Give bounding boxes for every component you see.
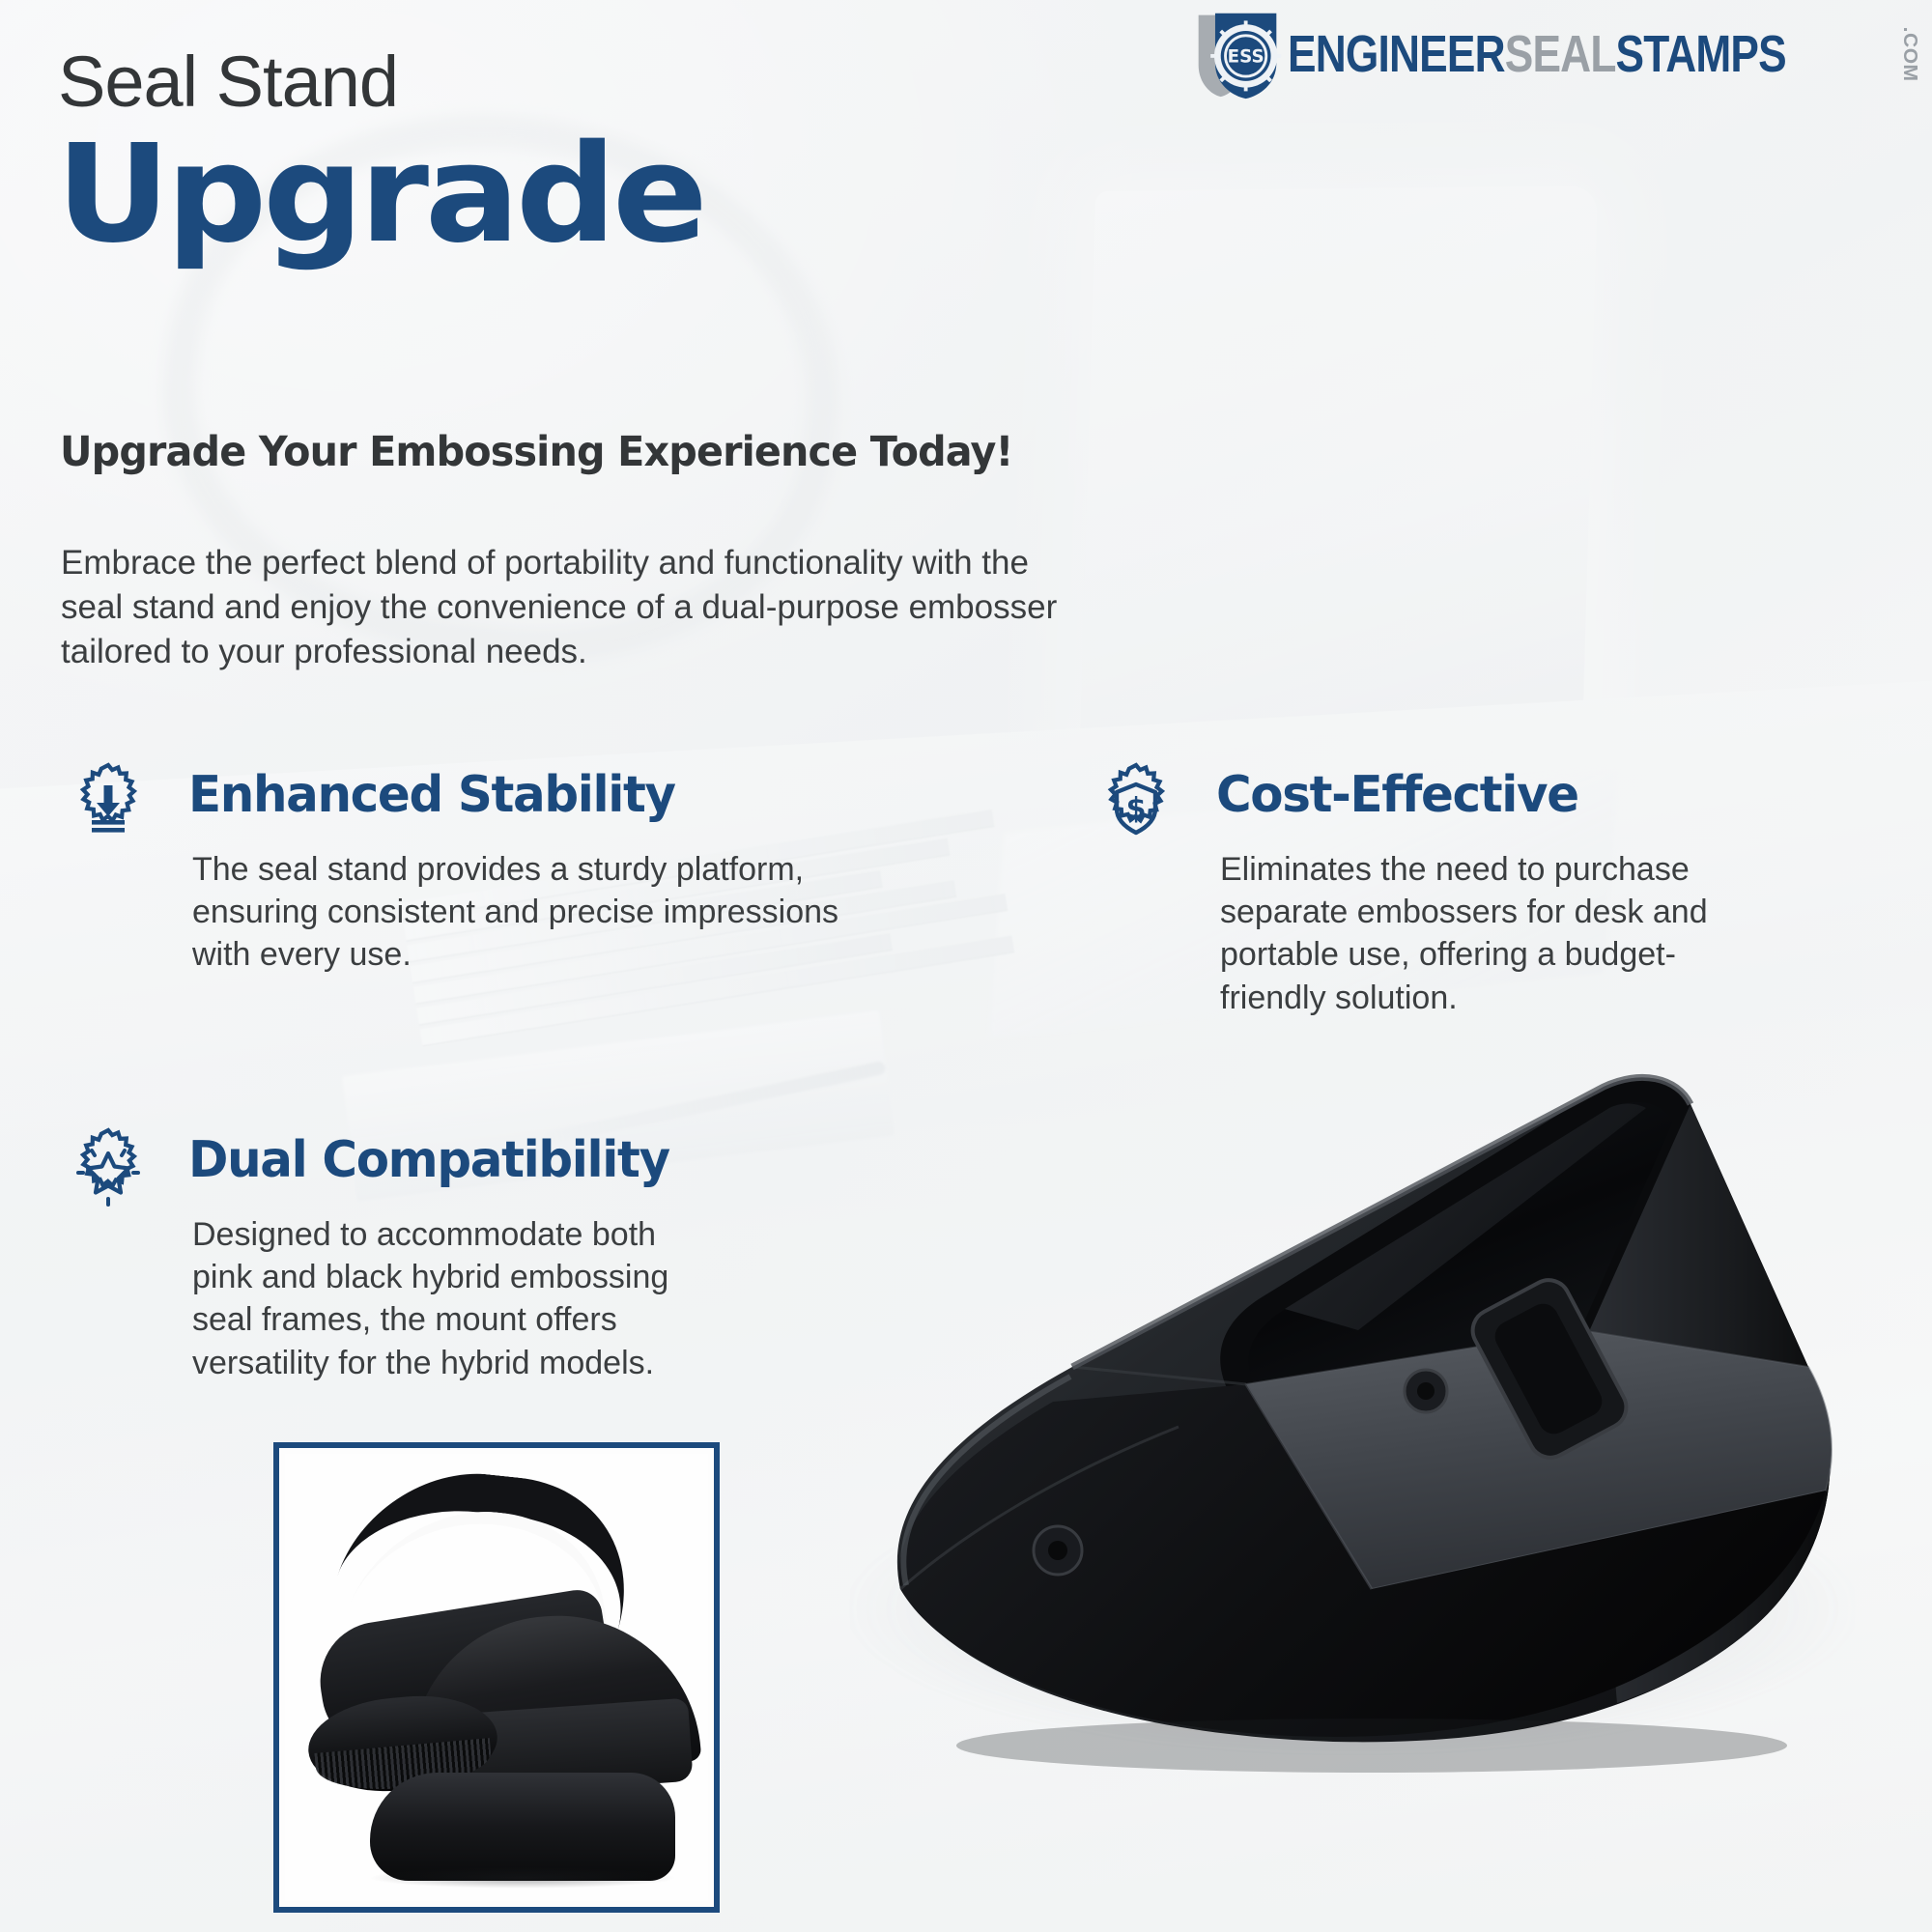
feature-body: Eliminates the need to purchase separate… (1220, 848, 1722, 1019)
hero-product-photo (831, 1048, 1913, 1782)
brand-word-engineer: ENGINEER (1288, 28, 1505, 80)
brand-tld: .COM (1898, 27, 1920, 82)
feature-heading: Dual Compatibility (188, 1131, 669, 1189)
ess-shield-gear-icon: ESS (1191, 8, 1284, 100)
sparkle-star-badge-icon (60, 1123, 156, 1220)
brand-word-stamps: STAMPS (1615, 28, 1785, 80)
seal-stand-base (370, 1773, 675, 1881)
svg-text:$: $ (1126, 792, 1147, 826)
brand-word-seal: SEAL (1505, 28, 1616, 80)
feature-heading: Cost-Effective (1216, 766, 1578, 824)
feature-heading: Enhanced Stability (188, 766, 675, 824)
feature-body: The seal stand provides a sturdy platfor… (192, 848, 868, 977)
page-title: Upgrade (56, 128, 704, 263)
inset-product-photo-frame (273, 1442, 720, 1913)
feature-body: Designed to accommodate both pink and bl… (192, 1213, 704, 1384)
shield-dollar-badge-icon: $ (1088, 758, 1184, 855)
inset-product-photo (285, 1454, 708, 1901)
brand-wordmark: ENGINEER SEAL STAMPS (1288, 28, 1786, 80)
subheading: Upgrade Your Embossing Experience Today! (60, 428, 1013, 476)
seal-stand-wedge (831, 1048, 1913, 1782)
ess-badge-text: ESS (1228, 47, 1264, 68)
page-eyebrow: Seal Stand (58, 46, 398, 118)
infographic-canvas: ESS ENGINEER SEAL STAMPS .COM (0, 0, 1932, 1932)
brand-logo[interactable]: ESS ENGINEER SEAL STAMPS .COM (1191, 6, 1920, 102)
inset-photo-shadow (368, 1867, 677, 1889)
intro-paragraph: Embrace the perfect blend of portability… (61, 541, 1061, 675)
download-to-line-badge-icon (60, 758, 156, 855)
